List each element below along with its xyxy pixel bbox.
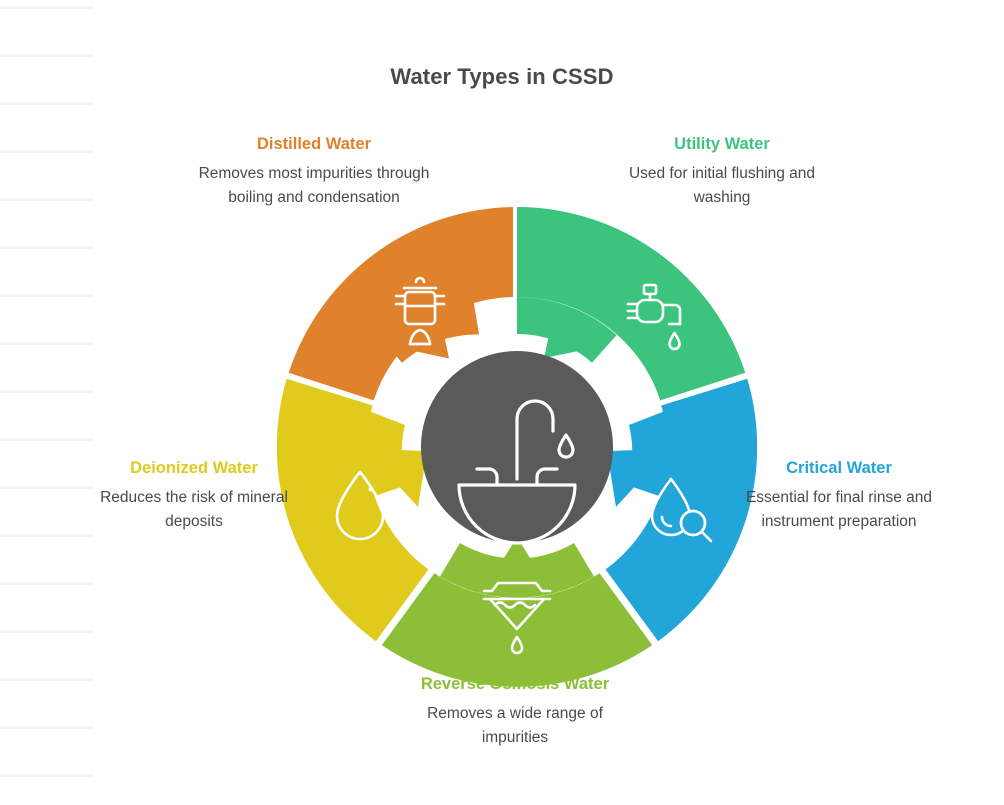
- margin-rule: [0, 150, 93, 153]
- callout-title-utility: Utility Water: [606, 134, 838, 155]
- margin-rule: [0, 54, 93, 57]
- callout-body-reverse-osmosis: Removes a wide range of impurities: [403, 702, 627, 749]
- margin-rule: [0, 774, 93, 777]
- callout-title-critical: Critical Water: [723, 458, 955, 479]
- callout-body-distilled: Removes most impurities through boiling …: [198, 162, 430, 209]
- left-margin-placeholder: [0, 0, 94, 805]
- callout-reverse-osmosis-water: Reverse Osmosis Water Removes a wide ran…: [403, 674, 627, 750]
- margin-rule: [0, 6, 93, 9]
- callout-distilled-water: Distilled Water Removes most impurities …: [198, 134, 430, 210]
- callout-body-critical: Essential for final rinse and instrument…: [723, 486, 955, 533]
- margin-rule: [0, 582, 93, 585]
- margin-rule: [0, 630, 93, 633]
- margin-rule: [0, 342, 93, 345]
- callout-body-deionized: Reduces the risk of mineral deposits: [78, 486, 310, 533]
- callout-critical-water: Critical Water Essential for final rinse…: [723, 458, 955, 534]
- callout-title-deionized: Deionized Water: [78, 458, 310, 479]
- segment-reverse-osmosis[interactable]: [382, 537, 652, 687]
- callout-utility-water: Utility Water Used for initial flushing …: [606, 134, 838, 210]
- margin-rule: [0, 438, 93, 441]
- margin-rule: [0, 726, 93, 729]
- margin-rule: [0, 294, 93, 297]
- infographic-page: Water Types in CSSD: [0, 0, 1004, 805]
- callout-body-utility: Used for initial flushing and washing: [606, 162, 838, 209]
- callout-title-distilled: Distilled Water: [198, 134, 430, 155]
- margin-rule: [0, 390, 93, 393]
- page-title: Water Types in CSSD: [0, 64, 1004, 90]
- callout-title-reverse-osmosis: Reverse Osmosis Water: [403, 674, 627, 695]
- margin-rule: [0, 102, 93, 105]
- callout-deionized-water: Deionized Water Reduces the risk of mine…: [78, 458, 310, 534]
- margin-rule: [0, 246, 93, 249]
- water-types-donut-chart: [277, 207, 757, 687]
- margin-rule: [0, 198, 93, 201]
- margin-rule: [0, 534, 93, 537]
- margin-rule: [0, 678, 93, 681]
